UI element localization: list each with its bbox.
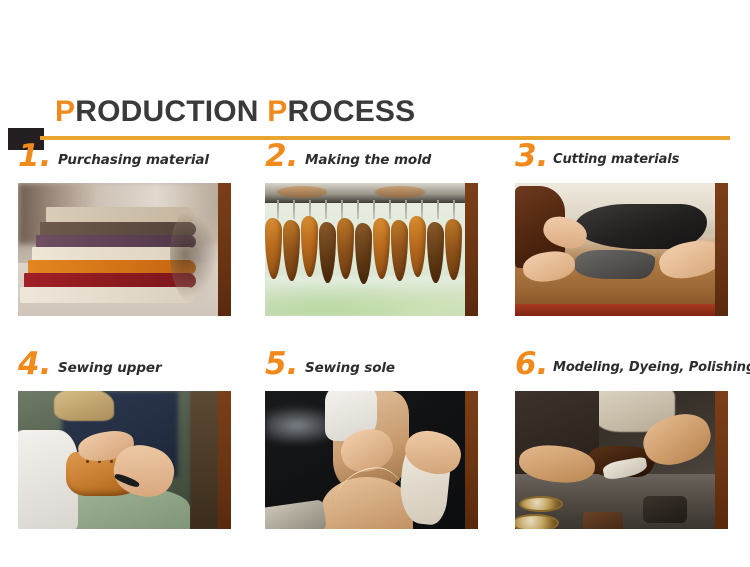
step-photo-3-edge-stripe	[715, 183, 728, 316]
step-photo-1-image	[18, 183, 218, 316]
step-photo-6-image	[515, 391, 715, 529]
step-number-1: 1.	[18, 136, 51, 176]
step-photo-6-edge-stripe	[715, 391, 728, 529]
step-photo-2-edge-stripe	[465, 183, 478, 316]
step-card-4: 4. Sewing upper	[18, 348, 231, 553]
header: PRODUCTION PROCESS	[0, 40, 750, 112]
step-photo-3	[515, 183, 728, 316]
step-caption-4: 4. Sewing upper	[18, 348, 231, 388]
step-card-2: 2. Making the mold	[265, 140, 478, 345]
steps-grid: 1. Purchasing material	[18, 140, 732, 553]
step-card-5: 5. Sewing sole	[265, 348, 478, 553]
step-number-5: 5.	[265, 344, 298, 384]
step-photo-5-edge-stripe	[465, 391, 478, 529]
step-photo-1-edge-stripe	[218, 183, 231, 316]
page-title-word-2: ROCESS	[287, 95, 415, 128]
step-photo-3-image	[515, 183, 715, 316]
step-label-3: Cutting materials	[553, 150, 679, 170]
step-card-1: 1. Purchasing material	[18, 140, 231, 345]
cutting-leather-illustration	[515, 183, 715, 316]
page-title-word-1: RODUCTION	[75, 95, 267, 128]
step-card-6: 6. Modeling, Dyeing, Polishing	[515, 348, 728, 553]
polishing-shoe-illustration	[515, 391, 715, 529]
step-label-6: Modeling, Dyeing, Polishing	[553, 358, 750, 378]
step-number-2: 2.	[265, 136, 298, 176]
step-caption-1: 1. Purchasing material	[18, 140, 231, 180]
page-title-cap-1: P	[55, 95, 75, 128]
sewing-sole-illustration	[265, 391, 465, 529]
stacked-leather-sheets-illustration	[18, 183, 218, 316]
hanging-shoe-lasts-illustration	[265, 183, 465, 316]
page-title-cap-2: P	[267, 95, 287, 128]
step-card-3: 3. Cutting materials	[515, 140, 728, 345]
page-title: PRODUCTION PROCESS	[55, 93, 415, 131]
step-photo-5-image	[265, 391, 465, 529]
step-label-4: Sewing upper	[58, 358, 162, 378]
step-caption-5: 5. Sewing sole	[265, 348, 478, 388]
step-label-2: Making the mold	[305, 150, 431, 170]
step-photo-4	[18, 391, 231, 529]
step-number-4: 4.	[18, 344, 51, 384]
step-photo-4-edge-stripe	[218, 391, 231, 529]
step-photo-2-image	[265, 183, 465, 316]
step-number-3: 3.	[515, 136, 548, 176]
step-label-1: Purchasing material	[58, 150, 209, 170]
steps-row-1: 1. Purchasing material	[18, 140, 732, 345]
step-label-5: Sewing sole	[305, 358, 395, 378]
step-photo-6	[515, 391, 728, 529]
step-photo-5	[265, 391, 478, 529]
step-number-6: 6.	[515, 344, 548, 384]
step-photo-1	[18, 183, 231, 316]
step-photo-4-image	[18, 391, 218, 529]
steps-row-2: 4. Sewing upper	[18, 348, 732, 553]
production-process-infographic: PRODUCTION PROCESS 1. Purchasing materia…	[0, 0, 750, 567]
step-caption-2: 2. Making the mold	[265, 140, 478, 180]
step-caption-6: 6. Modeling, Dyeing, Polishing	[515, 348, 728, 388]
step-caption-3: 3. Cutting materials	[515, 140, 728, 180]
sewing-upper-illustration	[18, 391, 218, 529]
step-photo-2	[265, 183, 478, 316]
